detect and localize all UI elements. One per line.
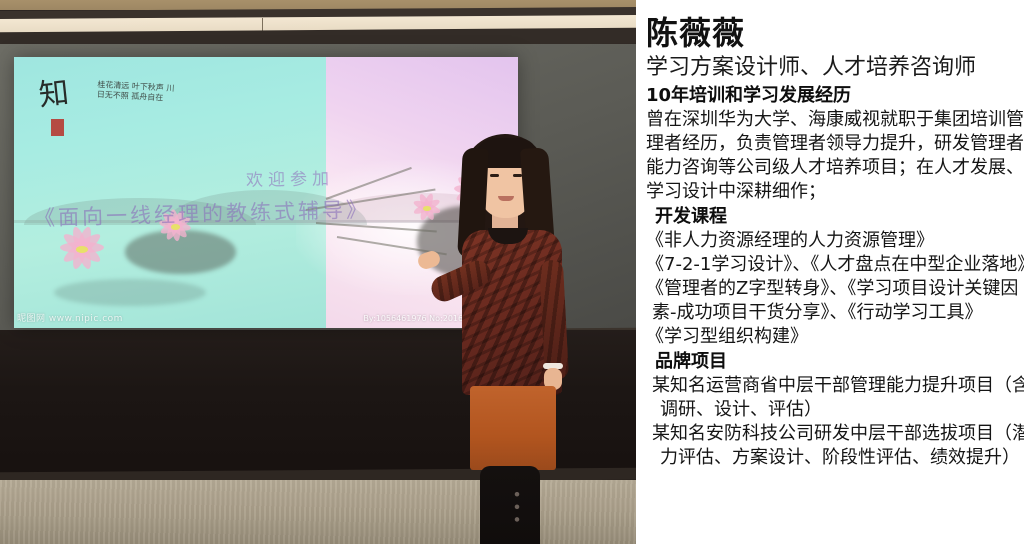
profile-slide: 知 桂花清远 叶下秋声 川日无不照 孤舟自在 欢迎参加 《面向一线经理的教练式辅…: [0, 0, 1024, 544]
watermark-left: 昵图网 www.nipic.com: [17, 311, 123, 324]
section-line: 《学习型组织构建》: [646, 325, 1024, 349]
profile-name: 陈薇薇: [646, 16, 1024, 52]
presenter-boot-studs: [514, 490, 520, 532]
water-reflection: [54, 279, 205, 306]
section-line: 调研、设计、评估）: [660, 398, 1024, 422]
section-line: 某知名运营商省中层干部管理能力提升项目（含: [652, 374, 1024, 398]
calligraphy-inscription: 桂花清远 叶下秋声 川日无不照 孤舟自在: [96, 80, 176, 104]
wall-trim-seam: [262, 18, 263, 31]
presenter-legs: [480, 466, 540, 544]
presenter-skirt: [470, 386, 556, 470]
section-line: 《7-2-1学习设计》、《人才盘点在中型企业落地》: [646, 253, 1024, 277]
slide-welcome-text: 欢迎参加: [246, 165, 334, 192]
lotus-flower: [34, 225, 130, 279]
presenter-hand-left: [416, 249, 442, 271]
section-line: 《非人力资源经理的人力资源管理》: [646, 229, 1024, 253]
section-line: 曾在深圳华为大学、海康威视就职于集团培训管: [646, 108, 1024, 132]
presenter-mouth: [498, 196, 514, 201]
section-heading-brand-projects: 品牌项目: [655, 350, 1024, 373]
section-line: 力评估、方案设计、阶段性评估、绩效提升）: [660, 446, 1024, 470]
profile-text-panel: 陈薇薇 学习方案设计师、人才培养咨询师 10年培训和学习发展经历 曾在深圳华为大…: [636, 0, 1024, 544]
calligraphy-block: 知 桂花清远 叶下秋声 川日无不照 孤舟自在: [39, 76, 190, 184]
section-line: 《管理者的Z字型转身》、《学习项目设计关键因: [646, 277, 1024, 301]
section-line: 某知名安防科技公司研发中层干部选拔项目（潜: [652, 422, 1024, 446]
presenter-eye-left: [490, 174, 499, 177]
presenter-figure: [418, 130, 588, 544]
section-line: 素-成功项目干货分享》、《行动学习工具》: [652, 301, 1024, 325]
calligraphy-brush-character: 知: [38, 79, 71, 112]
calligraphy-seal-stamp: [51, 119, 64, 136]
section-line: 理者经历，负责管理者领导力提升，研发管理者: [646, 132, 1024, 156]
section-heading-experience: 10年培训和学习发展经历: [646, 84, 1024, 107]
lotus-core: [76, 246, 88, 253]
section-heading-courses: 开发课程: [655, 205, 1024, 228]
presenter-eye-right: [513, 174, 522, 177]
presenter-photo: 知 桂花清远 叶下秋声 川日无不照 孤舟自在 欢迎参加 《面向一线经理的教练式辅…: [0, 0, 636, 544]
profile-subtitle: 学习方案设计师、人才培养咨询师: [646, 55, 1024, 81]
section-line: 学习设计中深耕细作；: [646, 180, 1024, 204]
section-line: 能力咨询等公司级人才培养项目；在人才发展、: [646, 156, 1024, 180]
